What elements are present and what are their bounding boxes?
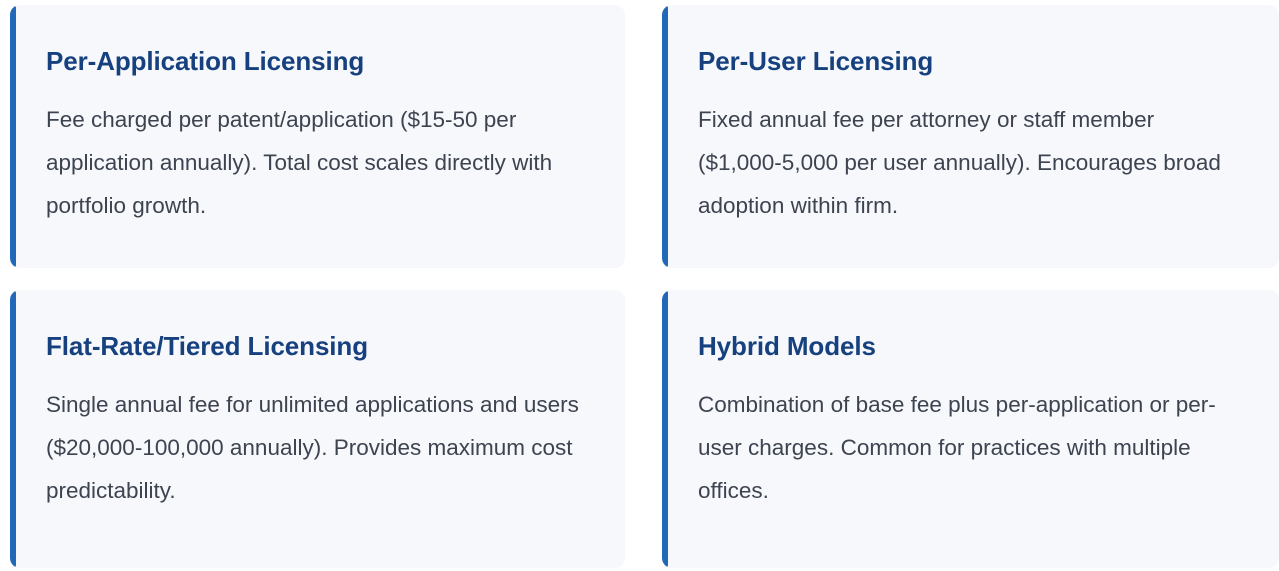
card-flat-rate-tiered-licensing[interactable]: Flat-Rate/Tiered Licensing Single annual… (10, 290, 625, 568)
card-cell-per-user: Per-User Licensing Fixed annual fee per … (647, 0, 1279, 285)
card-title: Per-User Licensing (698, 47, 1245, 77)
card-per-user-licensing[interactable]: Per-User Licensing Fixed annual fee per … (662, 5, 1279, 268)
card-title: Per-Application Licensing (46, 47, 591, 77)
card-description: Fixed annual fee per attorney or staff m… (698, 77, 1238, 227)
card-cell-per-application: Per-Application Licensing Fee charged pe… (0, 0, 647, 285)
card-description: Fee charged per patent/application ($15-… (46, 77, 581, 227)
card-per-application-licensing[interactable]: Per-Application Licensing Fee charged pe… (10, 5, 625, 268)
card-cell-hybrid-models: Hybrid Models Combination of base fee pl… (647, 285, 1279, 571)
card-cell-flat-rate-tiered: Flat-Rate/Tiered Licensing Single annual… (0, 285, 647, 571)
card-title: Hybrid Models (698, 332, 1245, 362)
card-title: Flat-Rate/Tiered Licensing (46, 332, 591, 362)
licensing-models-card-grid: Per-Application Licensing Fee charged pe… (0, 0, 1279, 571)
card-description: Combination of base fee plus per-applica… (698, 362, 1238, 512)
card-hybrid-models[interactable]: Hybrid Models Combination of base fee pl… (662, 290, 1279, 568)
card-description: Single annual fee for unlimited applicat… (46, 362, 581, 512)
